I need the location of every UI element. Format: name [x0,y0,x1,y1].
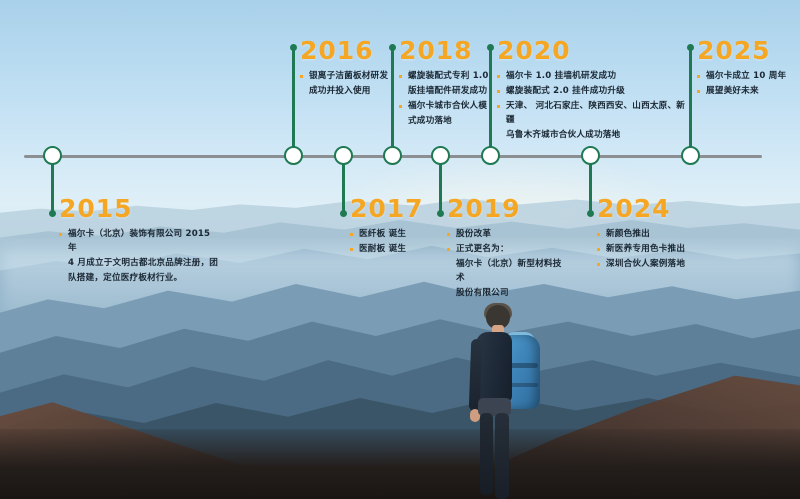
timeline-node-2016[interactable] [284,146,303,165]
milestone-item: 展望美好未来 [697,85,797,99]
milestone-year-2019: 2019 [447,196,567,221]
milestone-year-2025: 2025 [697,38,797,63]
milestone-item: 正式更名为： [447,243,567,257]
milestone-items-2025: 福尔卡成立 10 周年 展望美好未来 [697,70,797,99]
milestone-item: 股份改革 [447,228,567,242]
milestone-item: 银离子洁菌板材研发 [300,70,392,84]
milestone-items-2019: 股份改革 正式更名为： 福尔卡（北京）新型材料技术 股份有限公司 [447,228,567,301]
stem-2016 [292,47,295,155]
timeline-node-2015[interactable] [43,146,62,165]
milestone-item: 螺旋装配式专利 1.0 [399,70,494,84]
milestone-items-2020: 福尔卡 1.0 挂墙机研发成功 螺旋装配式 2.0 挂件成功升级 天津、 河北石… [497,70,692,143]
milestone-card-2016[interactable]: 2016 银离子洁菌板材研发 成功并投入使用 [300,38,392,100]
milestone-item: 天津、 河北石家庄、陕西西安、山西太原、新疆 [497,100,692,128]
milestone-item: 医纤板 诞生 [350,228,430,242]
timeline-node-2018[interactable] [383,146,402,165]
milestone-item: 福尔卡成立 10 周年 [697,70,797,84]
timeline-node-2024[interactable] [581,146,600,165]
milestone-items-2018: 螺旋装配式专利 1.0 版挂墙配件研发成功 福尔卡城市合伙人模 式成功落地 [399,70,494,129]
milestone-card-2019[interactable]: 2019 股份改革 正式更名为： 福尔卡（北京）新型材料技术 股份有限公司 [447,196,567,302]
milestone-item: 福尔卡城市合伙人模 [399,100,494,114]
timeline-infographic: 2016 银离子洁菌板材研发 成功并投入使用 2018 螺旋装配式专利 1.0 … [0,0,800,499]
milestone-items-2024: 新颜色推出 新医养专用色卡推出 深圳合伙人案例落地 [597,228,727,272]
timeline-node-2017[interactable] [334,146,353,165]
milestone-item: 版挂墙配件研发成功 [399,85,494,99]
milestone-item: 乌鲁木齐城市合伙人成功落地 [497,129,692,143]
milestone-items-2015: 福尔卡（北京）装饰有限公司 2015 年 4 月成立于文明古都北京品牌注册，团 … [59,228,219,286]
milestone-item: 深圳合伙人案例落地 [597,258,727,272]
milestone-item: 螺旋装配式 2.0 挂件成功升级 [497,85,692,99]
milestone-item: 医耐板 诞生 [350,243,430,257]
milestone-year-2015: 2015 [59,196,219,221]
milestone-year-2020: 2020 [497,38,692,63]
milestone-card-2024[interactable]: 2024 新颜色推出 新医养专用色卡推出 深圳合伙人案例落地 [597,196,727,273]
timeline-node-2020[interactable] [481,146,500,165]
timeline-node-2019[interactable] [431,146,450,165]
milestone-card-2018[interactable]: 2018 螺旋装配式专利 1.0 版挂墙配件研发成功 福尔卡城市合伙人模 式成功… [399,38,494,130]
milestone-item: 新颜色推出 [597,228,727,242]
milestone-card-2015[interactable]: 2015 福尔卡（北京）装饰有限公司 2015 年 4 月成立于文明古都北京品牌… [59,196,219,287]
milestone-item: 新医养专用色卡推出 [597,243,727,257]
milestone-year-2016: 2016 [300,38,392,63]
milestone-year-2017: 2017 [350,196,430,221]
milestone-year-2018: 2018 [399,38,494,63]
milestone-item: 福尔卡（北京）新型材料技术 [447,258,567,286]
milestone-item: 股份有限公司 [447,287,567,301]
milestone-items-2017: 医纤板 诞生 医耐板 诞生 [350,228,430,257]
timeline-node-2025[interactable] [681,146,700,165]
milestone-item: 4 月成立于文明古都北京品牌注册，团 [59,257,219,271]
hiker-leg-left [480,413,493,495]
milestone-item: 队搭建，定位医疗板材行业。 [59,272,219,286]
milestone-item: 福尔卡（北京）装饰有限公司 2015 年 [59,228,219,256]
milestone-card-2025[interactable]: 2025 福尔卡成立 10 周年 展望美好未来 [697,38,797,100]
milestone-card-2017[interactable]: 2017 医纤板 诞生 医耐板 诞生 [350,196,430,258]
milestone-items-2016: 银离子洁菌板材研发 成功并投入使用 [300,70,392,99]
milestone-year-2024: 2024 [597,196,727,221]
hiker-figure [448,305,558,499]
milestone-card-2020[interactable]: 2020 福尔卡 1.0 挂墙机研发成功 螺旋装配式 2.0 挂件成功升级 天津… [497,38,692,144]
milestone-item: 福尔卡 1.0 挂墙机研发成功 [497,70,692,84]
foreground-base [0,429,800,499]
milestone-item: 成功并投入使用 [300,85,392,99]
hiker-leg-right [495,413,509,499]
milestone-item: 式成功落地 [399,115,494,129]
